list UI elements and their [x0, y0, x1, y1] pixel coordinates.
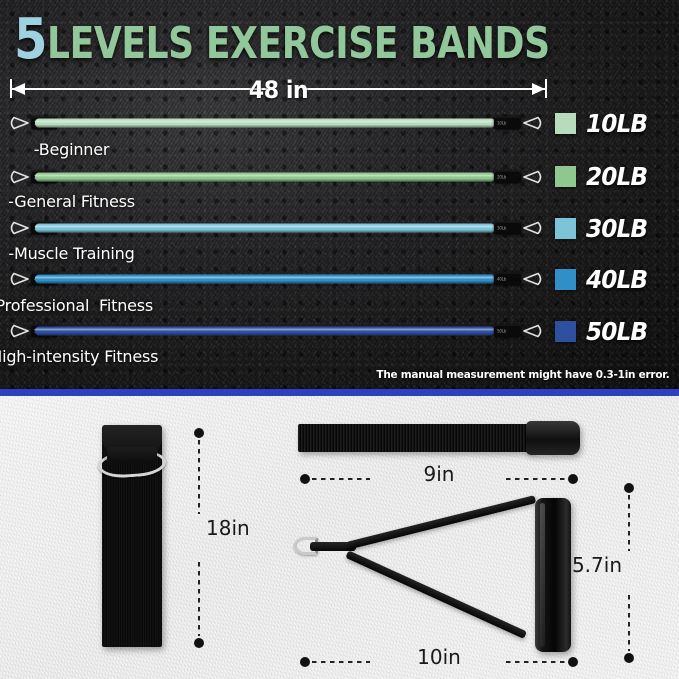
ankle-strap-webbing [298, 424, 533, 452]
band-sleeve-right: 40Lb [494, 273, 521, 286]
resistance-band-tube [35, 275, 495, 284]
carabiner-icon [522, 221, 544, 236]
resistance-band-tube [35, 173, 495, 182]
title-text: LEVELS EXERCISE BANDS [47, 22, 550, 66]
ankle-strap-length-dimension: 9in [300, 474, 578, 484]
door-anchor-dimension-label: 18in [206, 516, 250, 540]
legend-weight-label: 30LB [586, 214, 647, 243]
dimension-label: 48 in [242, 76, 314, 104]
band-sleeve-right: 50Lb [494, 325, 521, 338]
dimension-dot-top [194, 428, 204, 438]
dimension-dot-right [568, 474, 578, 484]
door-anchor-image [98, 425, 166, 647]
band-description: -Professional Fitness [0, 296, 411, 315]
legend-item-20lb: 20LB [555, 162, 652, 191]
carabiner-icon [522, 272, 544, 287]
dimension-dash-right [506, 661, 566, 663]
legend-item-50lb: 50LB [555, 317, 652, 346]
band-sleeve-right: 30Lb [494, 222, 521, 235]
band-sleeve-text-right: 40Lb [497, 276, 506, 281]
arrow-left-icon [12, 83, 25, 95]
page-title: 5 LEVELS EXERCISE BANDS [14, 14, 660, 66]
band-clip-right: 50Lb [494, 322, 544, 340]
legend-item-30lb: 30LB [555, 214, 652, 243]
band-sleeve-right: 10Lb [494, 117, 521, 130]
handle-height-dimension: 5.7in [628, 483, 630, 663]
carabiner-icon [522, 170, 544, 185]
band-sleeve-text-right: 30Lb [497, 225, 506, 230]
dimension-dash-bottom [198, 562, 200, 636]
handle-strap-upper [346, 495, 536, 550]
measurement-disclaimer: The manual measurement might have 0.3-1i… [376, 368, 669, 381]
dimension-dash-right [506, 478, 566, 480]
legend-weight-label: 50LB [586, 317, 647, 346]
carabiner-icon [522, 324, 544, 339]
handle-width-dimension: 10in [300, 657, 578, 667]
band-clip-right: 20Lb [494, 168, 544, 186]
ankle-strap-cuff [526, 421, 580, 455]
color-swatch [555, 166, 576, 187]
carabiner-icon [522, 116, 544, 131]
handle-strap-lower [345, 550, 527, 639]
door-anchor-length-dimension: 18in [198, 428, 200, 648]
band-description: -High-intensity Fitness [0, 347, 411, 366]
carabiner-icon [8, 116, 30, 131]
handle-height-label: 5.7in [572, 553, 622, 577]
legend-weight-label: 20LB [586, 162, 647, 191]
handle-width-label: 10in [300, 645, 578, 669]
band-description: -Muscle Training [0, 244, 411, 263]
dimension-dot-top [624, 483, 634, 493]
handle-image [300, 490, 578, 652]
band-description: -Beginner [0, 140, 411, 159]
dimension-dash-bottom [628, 595, 630, 651]
band-description: -General Fitness [0, 192, 411, 211]
band-sleeve-text-right: 10Lb [497, 120, 506, 125]
arrow-right-icon [532, 83, 545, 95]
band-length-dimension: 48 in [10, 78, 547, 100]
resistance-band-tube [35, 119, 495, 128]
anchor-fold [107, 447, 157, 463]
color-swatch [555, 269, 576, 290]
ankle-strap-dimension-label: 9in [300, 462, 578, 486]
resistance-band-tube [35, 327, 495, 336]
carabiner-icon [8, 170, 30, 185]
dimension-cap-right [545, 79, 547, 98]
title-number: 5 [14, 14, 46, 66]
carabiner-icon [8, 221, 30, 236]
band-sleeve-text-right: 50Lb [497, 328, 506, 333]
dimension-dot-bottom [624, 653, 634, 663]
legend-item-10lb: 10LB [555, 109, 652, 138]
dimension-label-wrap: 48 in [31, 76, 525, 104]
carabiner-icon [8, 324, 30, 339]
legend-item-40lb: 40LB [555, 265, 652, 294]
band-clip-right: 30Lb [494, 219, 544, 237]
legend-weight-label: 40LB [586, 265, 647, 294]
color-swatch [555, 218, 576, 239]
dimension-dot-bottom [194, 638, 204, 648]
product-infographic: 5 LEVELS EXERCISE BANDS 48 in 10Lb [0, 0, 679, 679]
band-clip-right: 40Lb [494, 270, 544, 288]
dimension-dash-top [198, 440, 200, 514]
carabiner-icon [8, 272, 30, 287]
panel-divider [0, 389, 679, 396]
resistance-band-tube [35, 224, 495, 233]
dimension-dash-top [628, 495, 630, 551]
band-sleeve-right: 20Lb [494, 171, 521, 184]
ankle-strap-image [298, 421, 578, 455]
band-sleeve-text-right: 20Lb [497, 174, 506, 179]
dimension-dot-right [568, 657, 578, 667]
color-swatch [555, 321, 576, 342]
color-swatch [555, 113, 576, 134]
handle-foam-grip [535, 498, 571, 652]
bands-panel: 5 LEVELS EXERCISE BANDS 48 in 10Lb [0, 0, 679, 390]
band-clip-right: 10Lb [494, 114, 544, 132]
legend-weight-label: 10LB [586, 109, 647, 138]
